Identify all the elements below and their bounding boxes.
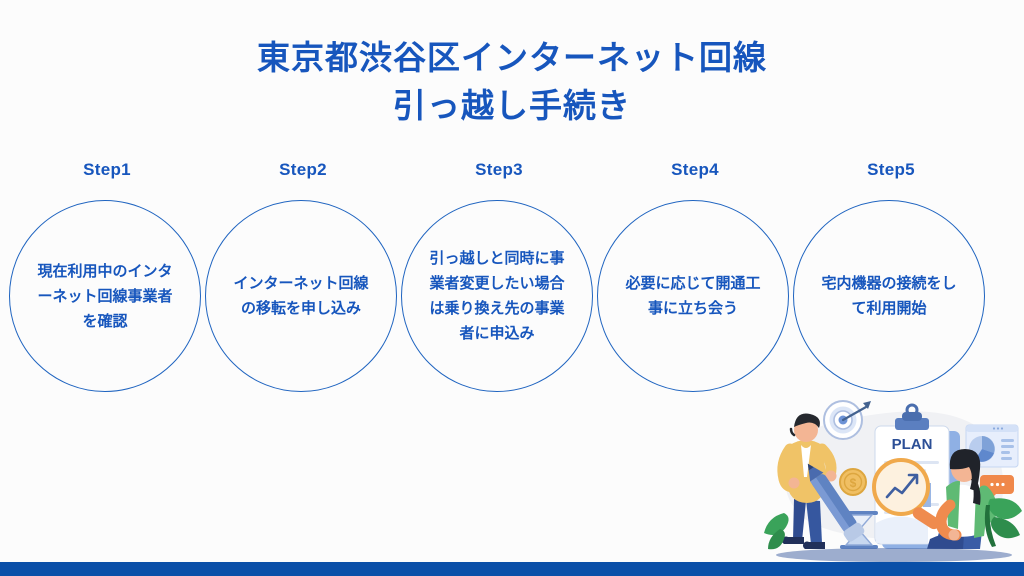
ground-shadow-icon	[776, 548, 1012, 562]
step-item-4: Step4 必要に応じて開通工事に立ち会う	[588, 160, 802, 410]
clipboard-plan-label: PLAN	[892, 436, 933, 453]
step-text-4: 必要に応じて開通工事に立ち会う	[619, 271, 767, 321]
step-label-4: Step4	[588, 160, 802, 182]
step-label-5: Step5	[784, 160, 998, 182]
steps-row: Step1 現在利用中のインターネット回線事業者を確認 Step2 インターネッ…	[0, 0, 1024, 420]
step-item-2: Step2 インターネット回線の移転を申し込み	[196, 160, 410, 410]
step-text-3: 引っ越しと同時に事業者変更したい場合は乗り換え先の事業者に申込み	[423, 246, 571, 346]
step-item-3: Step3 引っ越しと同時に事業者変更したい場合は乗り換え先の事業者に申込み	[392, 160, 606, 410]
coin-icon: $	[840, 469, 866, 495]
step-text-5: 宅内機器の接続をして利用開始	[815, 271, 963, 321]
step-circle-5: 宅内機器の接続をして利用開始	[793, 200, 985, 392]
slide-canvas: 東京都渋谷区インターネット回線 引っ越し手続き Step1 現在利用中のインター…	[0, 0, 1024, 576]
coin-symbol-label: $	[850, 476, 857, 490]
bottom-accent-bar	[0, 562, 1024, 576]
step-text-1: 現在利用中のインターネット回線事業者を確認	[31, 259, 179, 334]
step-text-2: インターネット回線の移転を申し込み	[227, 271, 375, 321]
step-item-5: Step5 宅内機器の接続をして利用開始	[784, 160, 998, 410]
step-label-3: Step3	[392, 160, 606, 182]
step-circle-3: 引っ越しと同時に事業者変更したい場合は乗り換え先の事業者に申込み	[401, 200, 593, 392]
step-label-1: Step1	[0, 160, 214, 182]
step-circle-1: 現在利用中のインターネット回線事業者を確認	[9, 200, 201, 392]
step-label-2: Step2	[196, 160, 410, 182]
step-item-1: Step1 現在利用中のインターネット回線事業者を確認	[0, 160, 214, 410]
step-circle-2: インターネット回線の移転を申し込み	[205, 200, 397, 392]
business-planning-illustration: PLAN	[754, 387, 1024, 562]
step-circle-4: 必要に応じて開通工事に立ち会う	[597, 200, 789, 392]
